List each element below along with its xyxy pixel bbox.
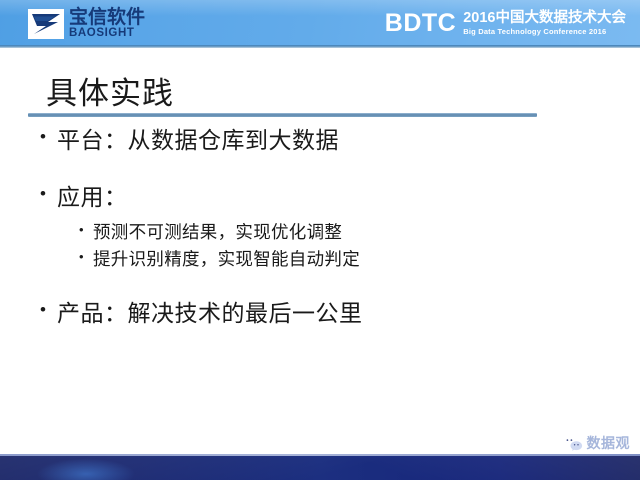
spacer xyxy=(40,155,600,183)
baosight-logo-wordmark: 宝信软件 BAOSIGHT xyxy=(69,8,145,40)
baosight-logo-cn: 宝信软件 xyxy=(69,8,145,27)
sub-bullet-text: 提升识别精度，实现智能自动判定 xyxy=(93,246,360,273)
baosight-logo: 宝信软件 BAOSIGHT xyxy=(28,6,163,42)
bullet-text: 应用： xyxy=(57,183,128,212)
sub-bullet-list: • 预测不可测结果，实现优化调整 • 提升识别精度，实现智能自动判定 xyxy=(79,219,600,273)
sub-bullet-item: • 预测不可测结果，实现优化调整 xyxy=(79,219,600,246)
bullet-item: • 应用： xyxy=(40,183,600,212)
footer-top-hairline xyxy=(0,454,640,456)
watermark-label: 数据观 xyxy=(587,433,631,453)
bullet-item: • 平台：从数据仓库到大数据 xyxy=(40,126,600,155)
sub-bullet-marker-icon: • xyxy=(79,246,93,268)
bdtc-title-cn: 2016中国大数据技术大会 xyxy=(463,11,626,26)
slide-body: • 平台：从数据仓库到大数据 • 应用： • 预测不可测结果，实现优化调整 • … xyxy=(40,126,600,329)
title-underline-rule xyxy=(28,113,537,117)
sub-bullet-item: • 提升识别精度，实现智能自动判定 xyxy=(79,246,600,273)
bullet-text: 产品：解决技术的最后一公里 xyxy=(57,299,363,328)
sub-bullet-marker-icon: • xyxy=(79,219,93,241)
bdtc-conference-brand: BDTC 2016中国大数据技术大会 Big Data Technology C… xyxy=(385,5,626,41)
bullet-marker-icon: • xyxy=(40,126,57,149)
bdtc-brand-text: 2016中国大数据技术大会 Big Data Technology Confer… xyxy=(463,11,626,35)
wechat-speech-bubble-icon xyxy=(562,435,583,452)
footer-highlight xyxy=(0,456,640,480)
spacer xyxy=(40,273,600,299)
baosight-swoosh-logo-icon xyxy=(28,9,64,39)
baosight-logo-en: BAOSIGHT xyxy=(69,28,145,40)
slide-title: 具体实践 xyxy=(46,68,174,113)
bullet-text: 平台：从数据仓库到大数据 xyxy=(57,126,339,155)
bdtc-acronym: BDTC xyxy=(385,11,456,36)
bdtc-title-en: Big Data Technology Conference 2016 xyxy=(463,28,626,36)
sub-bullet-text: 预测不可测结果，实现优化调整 xyxy=(93,219,342,246)
presentation-slide: 宝信软件 BAOSIGHT BDTC 2016中国大数据技术大会 Big Dat… xyxy=(0,0,640,480)
slide-footer-band xyxy=(0,454,640,480)
header-bottom-rule xyxy=(0,45,640,48)
bullet-marker-icon: • xyxy=(40,183,57,206)
source-watermark: 数据观 xyxy=(562,432,631,454)
bullet-marker-icon: • xyxy=(40,299,57,322)
bullet-item: • 产品：解决技术的最后一公里 xyxy=(40,299,600,328)
